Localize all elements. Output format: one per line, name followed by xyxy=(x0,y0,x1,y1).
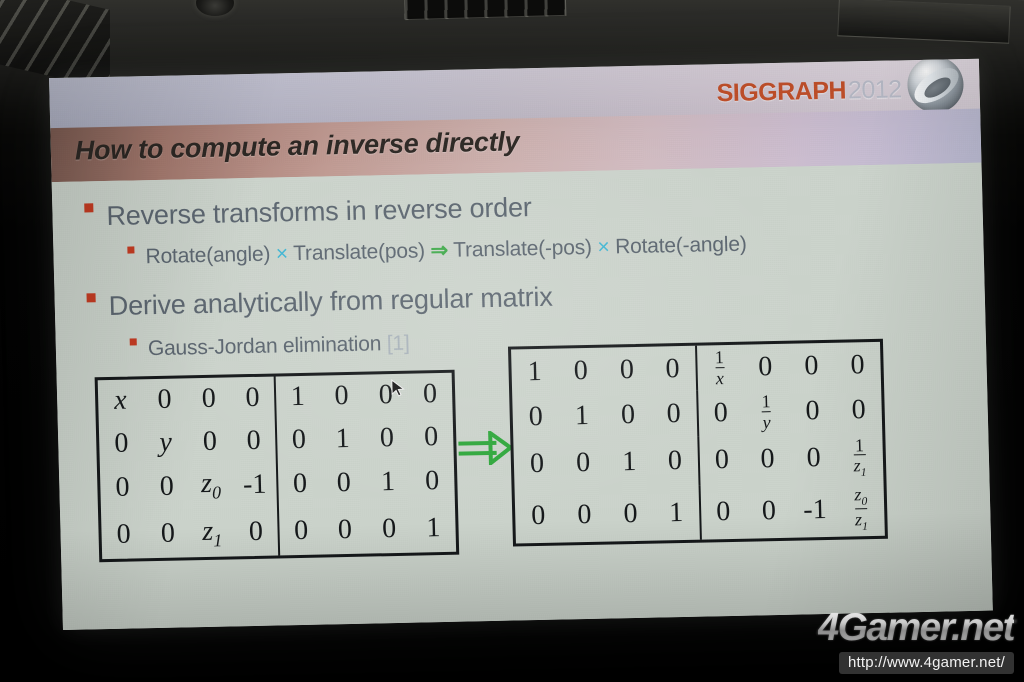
bullet-square-icon xyxy=(84,203,93,212)
formula-token: Gauss-Jordan elimination xyxy=(148,332,387,360)
matrix-table: 1 0 0 0 1x 0 0 0 0 xyxy=(511,342,885,544)
matrix-cell: 0 xyxy=(742,344,789,390)
matrix-cell: 0 xyxy=(561,488,608,543)
matrix-cell: 0 xyxy=(366,506,411,554)
matrix-row: 0 0 1 0 0 0 0 1z1 xyxy=(513,432,883,489)
matrix-cell: 0 xyxy=(697,390,744,436)
matrix-cell: 0 xyxy=(835,387,882,433)
formula-token: Rotate(-angle) xyxy=(609,233,747,259)
matrix-row: 0 0 0 1 0 0 -1 z0z1 xyxy=(515,482,885,544)
matrix-cell: 1 xyxy=(606,437,653,488)
siggraph-logo: SIGGRAPH 2012 xyxy=(716,67,964,114)
matrix-cell: 0 xyxy=(408,415,453,458)
implies-arrow-icon: ⇒ xyxy=(430,239,448,262)
matrix-cell: 1z1 xyxy=(836,432,883,483)
matrix-cell: 1x xyxy=(696,345,743,391)
matrix-cell: 0 xyxy=(789,388,836,434)
bullet-item-1: Reverse transforms in reverse order xyxy=(84,194,532,230)
bullet-item-1-label: Reverse transforms in reverse order xyxy=(106,194,532,230)
matrix-cell: 0 xyxy=(649,346,696,392)
matrix-cell: 0 xyxy=(698,435,745,486)
matrix-cell: 0 xyxy=(515,489,562,544)
bullet-square-icon xyxy=(127,246,134,253)
projection-screen: SIGGRAPH 2012 How to compute an inverse … xyxy=(49,59,993,630)
matrix-cell: 1 xyxy=(365,458,410,506)
matrix-cell: 0 xyxy=(652,436,699,487)
matrix-cell: 0 xyxy=(278,507,323,555)
matrix-table: x 0 0 0 1 0 0 0 0 y 0 xyxy=(98,373,456,559)
matrix-cell: 0 xyxy=(186,377,231,420)
matrix-cell: 0 xyxy=(604,392,651,438)
matrix-row: 1 0 0 0 1x 0 0 0 xyxy=(511,342,881,395)
bullet-item-3: Derive analytically from regular matrix xyxy=(86,284,552,321)
matrix-cell: 1y xyxy=(743,389,790,435)
siggraph-year: 2012 xyxy=(848,75,902,105)
formula-token: Translate(pos) xyxy=(288,239,431,265)
matrix-cell: 0 xyxy=(513,439,560,490)
matrix-cell: 0 xyxy=(187,420,232,463)
matrix-cell: 0 xyxy=(277,460,322,508)
matrix-cell: 0 xyxy=(231,419,276,462)
bullet-square-icon xyxy=(130,338,137,345)
matrix-cell: -1 xyxy=(791,483,838,538)
siggraph-wordmark: SIGGRAPH xyxy=(716,76,846,108)
bullet-item-2-label: Rotate(angle) × Translate(pos) ⇒ Transla… xyxy=(145,234,747,268)
page-title: How to compute an inverse directly xyxy=(74,126,519,166)
matrix-cell: x xyxy=(98,379,143,422)
matrix-cell: 0 xyxy=(101,511,146,559)
matrix-cell: -1 xyxy=(233,461,278,509)
matrix-cell: y xyxy=(143,421,188,464)
matrix-cell: 0 xyxy=(788,343,835,389)
ceiling-duct xyxy=(837,0,1010,44)
formula-token: Translate(-pos) xyxy=(448,236,598,262)
matrix-cell: 0 xyxy=(322,506,367,554)
slide-surface: SIGGRAPH 2012 How to compute an inverse … xyxy=(49,59,993,630)
bullet-item-3-label: Derive analytically from regular matrix xyxy=(108,284,552,320)
bullet-item-4: Gauss-Jordan elimination [1] xyxy=(130,333,410,360)
bullet-square-icon xyxy=(86,293,95,302)
matrix-cell: 0 xyxy=(744,434,791,485)
matrix-cell: 0 xyxy=(99,422,144,465)
matrix-cell: 0 xyxy=(559,438,606,489)
matrix-cell: 1 xyxy=(511,349,558,395)
matrix-cell: 0 xyxy=(410,457,455,505)
matrix-cell: 0 xyxy=(790,433,837,484)
matrix-cell: 1 xyxy=(653,486,700,541)
siggraph-orb-icon xyxy=(907,59,964,113)
matrix-cell: 0 xyxy=(651,391,698,437)
matrix-cell: 0 xyxy=(512,394,559,440)
bullet-item-4-label: Gauss-Jordan elimination [1] xyxy=(148,333,410,359)
mouse-cursor-icon xyxy=(391,379,405,397)
matrix-cell: 0 xyxy=(745,484,792,539)
augmented-matrix-before: x 0 0 0 1 0 0 0 0 y 0 xyxy=(95,370,460,562)
photo-frame: SIGGRAPH 2012 How to compute an inverse … xyxy=(0,0,1024,682)
matrix-cell: 0 xyxy=(834,342,881,388)
bullet-item-2: Rotate(angle) × Translate(pos) ⇒ Transla… xyxy=(127,234,747,268)
matrix-row: 0 y 0 0 0 1 0 0 xyxy=(99,415,454,465)
matrix-cell: z0z1 xyxy=(837,482,884,537)
matrix-cell: 0 xyxy=(142,378,187,421)
matrix-row: 0 0 z1 0 0 0 0 1 xyxy=(101,505,456,560)
matrix-cell: 0 xyxy=(145,510,190,558)
formula-token: Rotate(angle) xyxy=(145,242,276,268)
matrix-cell: 1 xyxy=(411,505,456,553)
citation-reference: [1] xyxy=(387,332,410,355)
matrix-cell: 1 xyxy=(320,417,365,460)
matrix-cell: 1 xyxy=(558,393,605,439)
matrix-cell: 0 xyxy=(699,485,746,540)
matrix-cell: 0 xyxy=(276,418,321,461)
matrix-cell: 0 xyxy=(557,348,604,394)
matrix-cell: 0 xyxy=(100,464,145,512)
matrix-cell: 0 xyxy=(603,347,650,393)
matrix-cell: z0 xyxy=(188,462,233,510)
matrix-cell: 0 xyxy=(607,487,654,542)
implies-arrow-icon xyxy=(456,431,513,466)
matrix-cell: 0 xyxy=(230,377,275,420)
matrix-row: 0 1 0 0 0 1y 0 0 xyxy=(512,387,882,440)
matrix-cell: z1 xyxy=(190,509,235,557)
matrix-cell: 0 xyxy=(407,373,452,416)
matrix-row: 0 0 z0 -1 0 0 1 0 xyxy=(100,457,455,512)
matrix-cell: 0 xyxy=(144,463,189,511)
multiply-operator-icon: × xyxy=(276,242,289,265)
matrix-cell: 0 xyxy=(364,416,409,459)
matrix-cell: 1 xyxy=(275,376,320,419)
augmented-matrix-after: 1 0 0 0 1x 0 0 0 0 xyxy=(508,339,888,547)
slide-body: Reverse transforms in reverse order Rota… xyxy=(52,163,993,630)
matrix-cell: 0 xyxy=(234,508,279,556)
matrix-cell: 0 xyxy=(319,375,364,418)
multiply-operator-icon: × xyxy=(597,235,610,258)
matrix-cell: 0 xyxy=(321,459,366,507)
